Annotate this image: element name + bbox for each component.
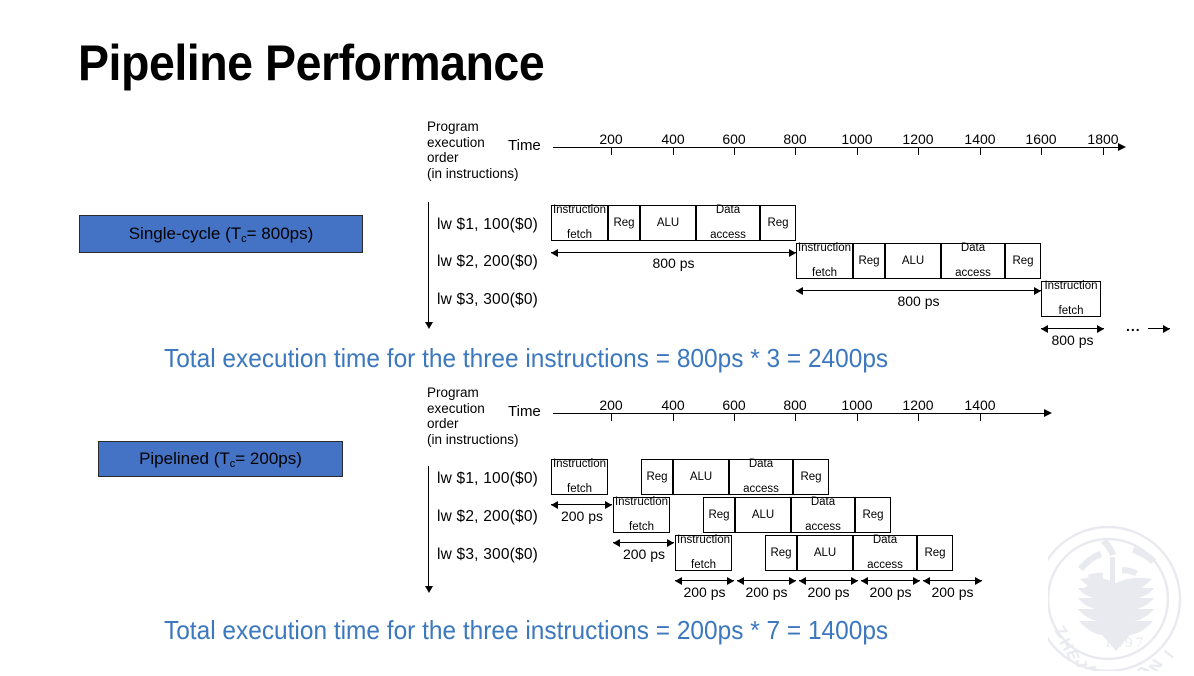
- stage-text-reg: Reg: [645, 471, 668, 484]
- axis-tick-b-7: [980, 414, 981, 421]
- bottom-span-label-b-3: 200 ps: [799, 584, 858, 600]
- stage-text-reg: Reg: [769, 547, 792, 560]
- pipelined-badge[interactable]: Pipelined (Tc= 200ps): [98, 441, 343, 477]
- stage-b-r3-alu: ALU: [797, 535, 853, 571]
- stage-text-data-l1: Data: [804, 496, 842, 509]
- axis-tick-b-6: [918, 414, 919, 421]
- time-axis-line-b: [553, 413, 1045, 414]
- stage-text-if-l1: Instruction: [614, 496, 669, 509]
- time-axis-label-b: Time: [508, 403, 541, 420]
- execution-order-line-b: [428, 466, 429, 588]
- stage-text-if-l2: fetch: [614, 521, 669, 534]
- axis-tick-label-b-5: 1000: [832, 397, 882, 413]
- instruction-label-b-1: lw $1, 100($0): [437, 470, 538, 488]
- axis-tick-label-b-1: 200: [586, 397, 636, 413]
- execution-order-arrow-b: [425, 586, 433, 593]
- stage-b-r3-reg1: Reg: [765, 535, 797, 571]
- stage-b-r3-reg2: Reg: [917, 535, 953, 571]
- stage-b-r1-if: Instructionfetch: [551, 459, 608, 495]
- stage-text-reg: Reg: [861, 509, 884, 522]
- axis-tick-b-1: [611, 414, 612, 421]
- axis-tick-b-3: [734, 414, 735, 421]
- stage-text-if-l2: fetch: [676, 559, 731, 572]
- axis-tick-b-5: [857, 414, 858, 421]
- axis-header-line1: Program: [427, 385, 519, 401]
- stage-b-r2-reg2: Reg: [855, 497, 891, 533]
- stage-b-r2-alu: ALU: [735, 497, 791, 533]
- svg-text:1897: 1897: [1104, 635, 1146, 651]
- instruction-label-b-3: lw $3, 300($0): [437, 546, 538, 564]
- stage-b-r2-data: Dataaccess: [791, 497, 855, 533]
- axis-tick-b-2: [673, 414, 674, 421]
- stage-b-r2-reg1: Reg: [703, 497, 735, 533]
- bottom-span-label-b-4: 200 ps: [861, 584, 920, 600]
- stage-text-alu: ALU: [751, 509, 775, 522]
- stage-text-data-l1: Data: [742, 458, 780, 471]
- stage-text-data-l2: access: [804, 521, 842, 534]
- stage-text-alu: ALU: [813, 547, 837, 560]
- axis-tick-label-b-4: 800: [770, 397, 820, 413]
- bottom-span-label-b-5: 200 ps: [923, 584, 982, 600]
- axis-header-line4: (in instructions): [427, 432, 519, 448]
- time-axis-arrow-b: [1044, 409, 1052, 417]
- bottom-span-label-b-1: 200 ps: [675, 584, 734, 600]
- axis-tick-label-b-7: 1400: [955, 397, 1005, 413]
- svg-text:I: I: [1160, 646, 1176, 660]
- stage-text-data-l2: access: [742, 483, 780, 496]
- stage-b-r1-alu: ALU: [673, 459, 729, 495]
- stage-b-r3-data: Dataaccess: [853, 535, 917, 571]
- axis-tick-label-b-3: 600: [709, 397, 759, 413]
- zhejiang-university-logo-watermark: 1897 Z H E J I A N G U N I: [1048, 521, 1194, 671]
- axis-tick-label-b-2: 400: [648, 397, 698, 413]
- stage-text-reg: Reg: [923, 547, 946, 560]
- bottom-span-label-b-2: 200 ps: [737, 584, 796, 600]
- stage-text-data-l2: access: [866, 559, 904, 572]
- pipelined-total-caption: Total execution time for the three instr…: [164, 615, 888, 646]
- stage-b-r1-data: Dataaccess: [729, 459, 793, 495]
- stage-b-r1-reg1: Reg: [641, 459, 673, 495]
- stage-text-reg: Reg: [707, 509, 730, 522]
- instruction-label-b-2: lw $2, 200($0): [437, 508, 538, 526]
- stage-text-if-l2: fetch: [552, 483, 607, 496]
- stage-b-r3-if: Instructionfetch: [675, 535, 732, 571]
- stage-text-if-l1: Instruction: [552, 458, 607, 471]
- stage-b-r1-reg2: Reg: [793, 459, 829, 495]
- axis-tick-b-4: [795, 414, 796, 421]
- axis-header-b: Program execution order (in instructions…: [427, 385, 519, 447]
- stage-b-r2-if: Instructionfetch: [613, 497, 670, 533]
- pipelined-badge-label: Pipelined (Tc= 200ps): [139, 449, 302, 469]
- stage-text-data-l1: Data: [866, 534, 904, 547]
- stage-text-alu: ALU: [689, 471, 713, 484]
- axis-header-line3: order: [427, 416, 519, 432]
- axis-header-line2: execution: [427, 401, 519, 417]
- pipelined-diagram: Program execution order (in instructions…: [0, 0, 1194, 661]
- stage-text-if-l1: Instruction: [676, 534, 731, 547]
- axis-tick-label-b-6: 1200: [893, 397, 943, 413]
- stage-text-reg: Reg: [799, 471, 822, 484]
